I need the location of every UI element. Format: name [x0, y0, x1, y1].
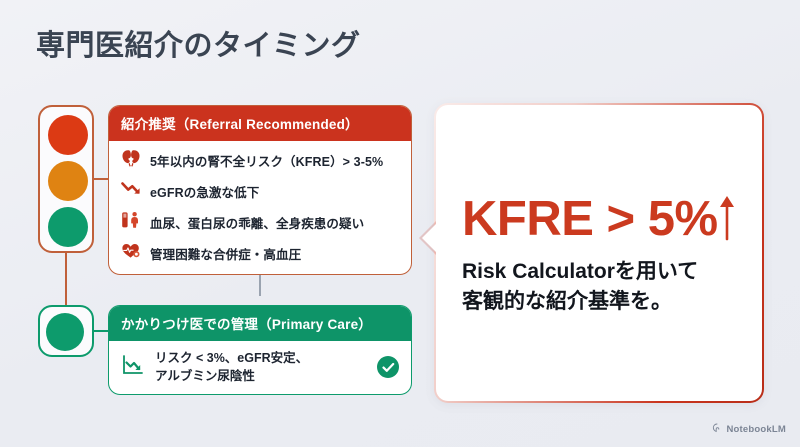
referral-traffic-light — [38, 105, 94, 253]
kfre-callout-card: KFRE > 5% Risk Calculatorを用いて 客観的な紹介基準を。 — [434, 103, 764, 403]
slide-root: 専門医紹介のタイミング 紹介推奨（Referral Recommended） — [0, 0, 800, 447]
callout-pointer — [422, 223, 437, 253]
connector-referral — [94, 178, 108, 180]
chart-down-icon — [121, 354, 145, 381]
list-item: eGFRの急激な低下 — [121, 176, 401, 207]
referral-card-header: 紹介推奨（Referral Recommended） — [109, 106, 411, 141]
trend-down-icon — [121, 180, 141, 203]
watermark: NotebookLM — [712, 423, 786, 436]
callout-body-line2: 客観的な紹介基準を。 — [462, 290, 672, 313]
referral-card-body: 5年以内の腎不全リスク（KFRE）> 3-5% eGFRの急激な低下 — [109, 141, 411, 273]
primary-care-item-label: リスク < 3%、eGFR安定、 アルブミン尿陰性 — [155, 349, 308, 385]
list-item: 管理困難な合併症・高血圧 — [121, 238, 401, 269]
list-item: 血尿、蛋白尿の乖離、全身疾患の疑い — [121, 207, 401, 238]
watermark-label: NotebookLM — [726, 424, 786, 435]
list-item-label: 管理困難な合併症・高血圧 — [150, 244, 301, 263]
orange-lamp — [48, 161, 88, 201]
blood-vial-person-icon — [121, 211, 141, 234]
notebooklm-icon — [712, 423, 722, 436]
callout-body-line1: Risk Calculatorを用いて — [462, 260, 698, 283]
list-item-label: 血尿、蛋白尿の乖離、全身疾患の疑い — [150, 213, 364, 232]
list-item-label: eGFRの急激な低下 — [150, 182, 259, 201]
primary-care-card-header: かかりつけ医での管理（Primary Care） — [109, 306, 411, 341]
callout-headline: KFRE > 5% — [462, 191, 738, 253]
green-lamp — [48, 207, 88, 247]
connector-cards-divider — [259, 272, 261, 296]
red-lamp — [48, 115, 88, 155]
check-circle-icon — [377, 356, 399, 378]
connector-vertical — [65, 253, 67, 305]
primary-care-traffic-light — [38, 305, 94, 357]
callout-headline-text: KFRE > 5% — [462, 191, 718, 247]
page-title: 専門医紹介のタイミング — [36, 22, 361, 64]
list-item: 5年以内の腎不全リスク（KFRE）> 3-5% — [121, 145, 401, 176]
kidneys-icon — [121, 149, 141, 172]
primary-care-card-body: リスク < 3%、eGFR安定、 アルブミン尿陰性 — [109, 341, 411, 385]
arrow-up-icon — [716, 193, 738, 253]
referral-card: 紹介推奨（Referral Recommended） 5年以内の腎不全リスク（K… — [108, 105, 412, 275]
callout-body: Risk Calculatorを用いて 客観的な紹介基準を。 — [462, 257, 698, 317]
primary-care-item-line2: アルブミン尿陰性 — [155, 369, 255, 383]
list-item-label: 5年以内の腎不全リスク（KFRE）> 3-5% — [150, 151, 383, 170]
green-lamp — [46, 313, 84, 351]
primary-care-card: かかりつけ医での管理（Primary Care） リスク < 3%、eGFR安定… — [108, 305, 412, 395]
primary-care-item-line1: リスク < 3%、eGFR安定、 — [155, 351, 308, 365]
heart-pulse-icon — [121, 242, 141, 265]
connector-primary-care — [94, 330, 108, 332]
